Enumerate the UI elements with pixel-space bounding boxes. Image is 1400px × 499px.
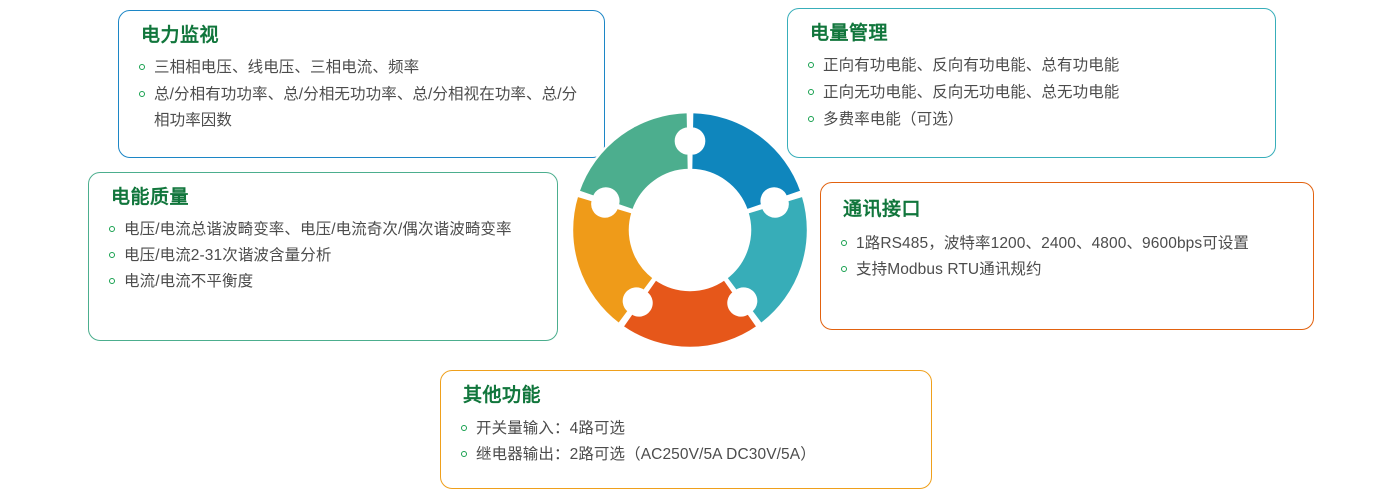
segment-blue xyxy=(691,112,801,210)
list-item: 电压/电流总谐波畸变率、电压/电流奇次/偶次谐波畸变率 xyxy=(109,217,539,242)
list-item: 继电器输出：2路可选（AC250V/5A DC30V/5A） xyxy=(461,442,913,467)
bullet-circle-icon xyxy=(139,91,145,97)
bullet-circle-icon xyxy=(841,240,847,246)
bullet-circle-icon xyxy=(461,425,467,431)
card-title-communication-interface: 通讯接口 xyxy=(843,199,1295,222)
bullet-circle-icon xyxy=(109,252,115,258)
bullet-circle-icon xyxy=(109,278,115,284)
card-title-energy-management: 电量管理 xyxy=(810,23,1257,46)
card-energy-management: 电量管理 正向有功电能、反向有功电能、总有功电能 正向无功电能、反向无功电能、总… xyxy=(787,8,1276,158)
segment-teal xyxy=(726,196,808,325)
list-item-text: 三相相电压、线电压、三相电流、频率 xyxy=(154,55,586,81)
card-list-communication-interface: 1路RS485，波特率1200、2400、4800、9600bps可设置 支持M… xyxy=(841,231,1295,282)
bullet-circle-icon xyxy=(139,64,145,70)
infographic-canvas: 电力监视 三相相电压、线电压、三相电流、频率 总/分相有功功率、总/分相无功功率… xyxy=(0,0,1400,499)
bullet-circle-icon xyxy=(808,62,814,68)
puzzle-ring-diagram xyxy=(565,105,815,355)
segment-green xyxy=(578,112,688,210)
list-item-text: 多费率电能（可选） xyxy=(823,107,1257,133)
list-item: 多费率电能（可选） xyxy=(808,107,1257,133)
list-item: 正向有功电能、反向有功电能、总有功电能 xyxy=(808,53,1257,79)
list-item-text: 电流/电流不平衡度 xyxy=(124,269,539,294)
list-item: 总/分相有功功率、总/分相无功功率、总/分相视在功率、总/分相功率因数 xyxy=(139,82,586,134)
card-title-power-monitor: 电力监视 xyxy=(141,25,586,48)
card-title-other-functions: 其他功能 xyxy=(463,385,913,408)
card-communication-interface: 通讯接口 1路RS485，波特率1200、2400、4800、9600bps可设… xyxy=(820,182,1314,330)
list-item-text: 电压/电流2-31次谐波含量分析 xyxy=(124,243,539,268)
bullet-circle-icon xyxy=(841,266,847,272)
card-list-other-functions: 开关量输入：4路可选 继电器输出：2路可选（AC250V/5A DC30V/5A… xyxy=(461,416,913,467)
list-item-text: 继电器输出：2路可选（AC250V/5A DC30V/5A） xyxy=(476,442,913,467)
card-title-power-quality: 电能质量 xyxy=(111,187,539,210)
card-list-energy-management: 正向有功电能、反向有功电能、总有功电能 正向无功电能、反向无功电能、总无功电能 … xyxy=(808,53,1257,133)
card-power-quality: 电能质量 电压/电流总谐波畸变率、电压/电流奇次/偶次谐波畸变率 电压/电流2-… xyxy=(88,172,558,341)
list-item-text: 正向有功电能、反向有功电能、总有功电能 xyxy=(823,53,1257,79)
card-list-power-monitor: 三相相电压、线电压、三相电流、频率 总/分相有功功率、总/分相无功功率、总/分相… xyxy=(139,55,586,134)
bullet-circle-icon xyxy=(808,89,814,95)
list-item-text: 支持Modbus RTU通讯规约 xyxy=(856,257,1295,282)
bullet-circle-icon xyxy=(461,451,467,457)
card-power-monitor: 电力监视 三相相电压、线电压、三相电流、频率 总/分相有功功率、总/分相无功功率… xyxy=(118,10,605,158)
card-list-power-quality: 电压/电流总谐波畸变率、电压/电流奇次/偶次谐波畸变率 电压/电流2-31次谐波… xyxy=(109,217,539,294)
list-item: 三相相电压、线电压、三相电流、频率 xyxy=(139,55,586,81)
card-other-functions: 其他功能 开关量输入：4路可选 继电器输出：2路可选（AC250V/5A DC3… xyxy=(440,370,932,489)
list-item: 1路RS485，波特率1200、2400、4800、9600bps可设置 xyxy=(841,231,1295,256)
list-item-text: 1路RS485，波特率1200、2400、4800、9600bps可设置 xyxy=(856,231,1295,256)
list-item: 支持Modbus RTU通讯规约 xyxy=(841,257,1295,282)
list-item-text: 总/分相有功功率、总/分相无功功率、总/分相视在功率、总/分相功率因数 xyxy=(154,82,586,134)
segment-amber xyxy=(572,196,654,325)
list-item-text: 正向无功电能、反向无功电能、总无功电能 xyxy=(823,80,1257,106)
list-item: 正向无功电能、反向无功电能、总无功电能 xyxy=(808,80,1257,106)
list-item: 电压/电流2-31次谐波含量分析 xyxy=(109,243,539,268)
list-item: 开关量输入：4路可选 xyxy=(461,416,913,441)
puzzle-ring-svg xyxy=(565,105,815,355)
list-item-text: 开关量输入：4路可选 xyxy=(476,416,913,441)
bullet-circle-icon xyxy=(109,226,115,232)
list-item: 电流/电流不平衡度 xyxy=(109,269,539,294)
list-item-text: 电压/电流总谐波畸变率、电压/电流奇次/偶次谐波畸变率 xyxy=(124,217,539,242)
